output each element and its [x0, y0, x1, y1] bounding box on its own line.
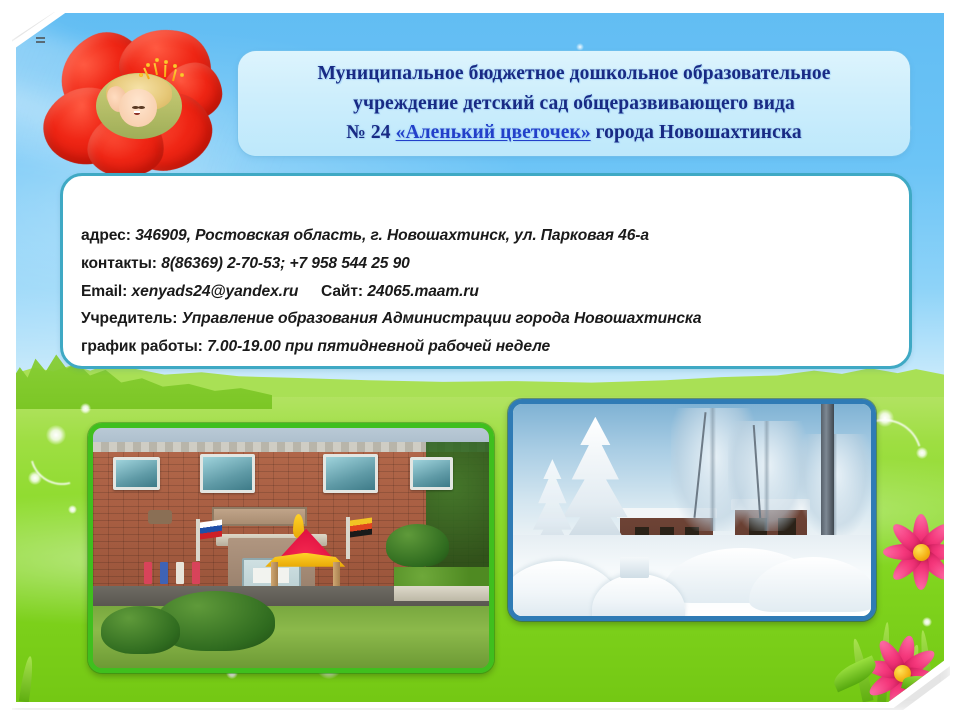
address-label: адрес:: [81, 227, 131, 244]
hours-row: график работы: 7.00-19.00 при пятидневно…: [81, 333, 909, 361]
bush-icon: [101, 606, 180, 654]
flagpole-icon: [346, 517, 350, 559]
window-icon: [323, 454, 378, 492]
title-line-2: учреждение детский сад общеразвивающего …: [353, 89, 795, 119]
contacts-row: контакты: 8(86369) 2-70-53; +7 958 544 2…: [81, 250, 909, 278]
title-city: города Новошахтинска: [591, 122, 802, 143]
institution-title-banner: Муниципальное бюджетное дошкольное образ…: [238, 51, 910, 156]
pennant-icon: [176, 562, 184, 584]
poster-root: Муниципальное бюджетное дошкольное образ…: [0, 0, 960, 720]
title-line-1: Муниципальное бюджетное дошкольное образ…: [317, 59, 830, 89]
stamen-dot-icon: [180, 73, 184, 77]
window-icon: [200, 454, 255, 492]
flowerbed-plants: [394, 567, 489, 586]
child-eye: [138, 106, 145, 109]
poster-sheet: Муниципальное бюджетное дошкольное образ…: [10, 8, 950, 708]
photo-winter-kindergarten[interactable]: [508, 399, 876, 621]
contacts-value: 8(86369) 2-70-53; +7 958 544 25 90: [161, 255, 409, 272]
pink-flower-icon: [878, 509, 944, 595]
snowy-bare-tree-icon: [728, 421, 807, 531]
pennant-icon: [160, 562, 168, 584]
window-icon: [410, 457, 454, 491]
hours-value: 7.00-19.00 при пятидневной рабочей недел…: [207, 338, 550, 355]
contacts-label: контакты:: [81, 255, 157, 272]
photo-summer-kindergarten[interactable]: [88, 423, 494, 673]
title-line-3: № 24 «Аленький цветочек» города Новошахт…: [346, 118, 802, 148]
snow-bin-icon: [620, 557, 649, 578]
child-photo-avatar: [96, 73, 182, 139]
email-site-row: Email: xenyads24@yandex.ru Сайт: 24065.m…: [81, 278, 909, 306]
hours-label: график работы:: [81, 338, 203, 355]
founder-label: Учредитель:: [81, 310, 177, 327]
pennant-icon: [144, 562, 152, 584]
stamen-dot-icon: [173, 64, 177, 68]
winter-scene: [513, 404, 871, 616]
poster-canvas: Муниципальное бюджетное дошкольное образ…: [16, 13, 944, 702]
stamen-dot-icon: [146, 63, 150, 67]
child-face: [119, 89, 157, 127]
snowy-bare-tree-icon: [799, 434, 871, 536]
bush-icon: [386, 524, 449, 567]
russian-flag-icon: [200, 520, 222, 540]
email-label: Email:: [81, 283, 127, 300]
founder-value: Управление образования Администрации гор…: [182, 310, 702, 327]
flower-medallion: [44, 29, 224, 184]
site-label: Сайт:: [321, 283, 363, 300]
contact-info-panel: адрес: 346909, Ростовская область, г. Но…: [60, 173, 912, 369]
kindergarten-scene: [93, 428, 489, 668]
stamen-dot-icon: [139, 73, 143, 77]
stamen-dot-icon: [155, 58, 159, 62]
pennant-icon: [192, 562, 200, 584]
light-bokeh-icon: [576, 43, 584, 51]
founder-row: Учредитель: Управление образования Админ…: [81, 305, 909, 333]
kindergarten-name: «Аленький цветочек»: [396, 122, 591, 143]
regional-flag-icon: [350, 517, 372, 537]
address-value: 346909, Ростовская область, г. Новошахти…: [135, 227, 649, 244]
flagpole-icon: [196, 519, 200, 561]
title-number: № 24: [346, 122, 395, 143]
email-value[interactable]: xenyads24@yandex.ru: [132, 283, 299, 300]
stamen-dot-icon: [164, 60, 168, 64]
address-row: адрес: 346909, Ростовская область, г. Но…: [81, 222, 909, 250]
site-value[interactable]: 24065.maam.ru: [367, 283, 478, 300]
corner-tick-mark-icon: [36, 37, 45, 43]
child-smile: [134, 111, 141, 115]
window-icon: [113, 457, 161, 491]
wall-lamp-icon: [148, 510, 172, 524]
child-photo: [96, 73, 182, 139]
